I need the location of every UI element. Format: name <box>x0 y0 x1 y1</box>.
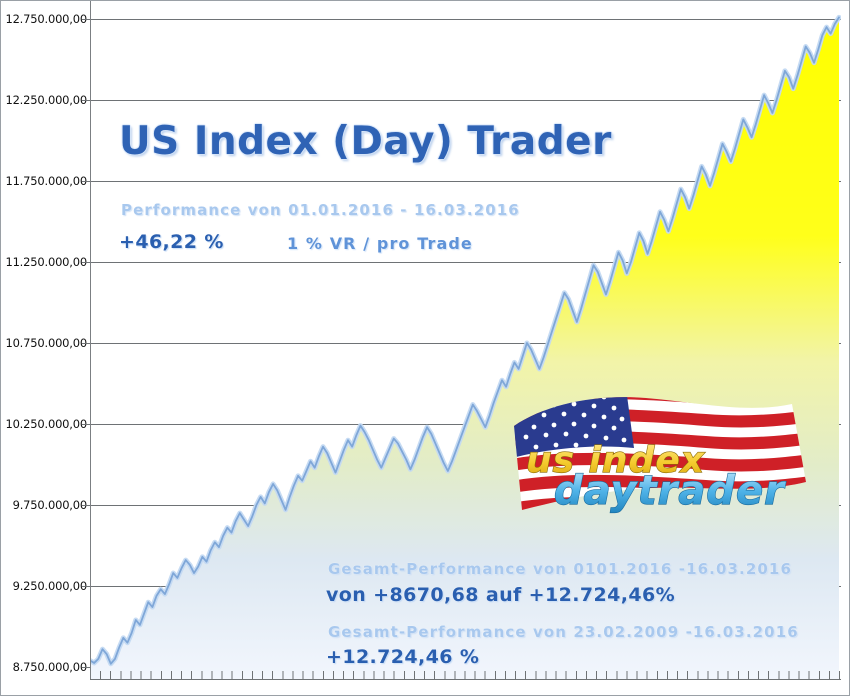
y-axis-tick-label: 9.250.000,00 <box>3 579 87 593</box>
y-axis-major-tick <box>82 181 90 182</box>
page-title: US Index (Day) Trader <box>119 119 612 164</box>
y-axis-tick-label: 12.250.000,00 <box>3 93 87 107</box>
y-axis-major-tick <box>82 100 90 101</box>
total-performance-value-1: von +8670,68 auf +12.724,46% <box>326 584 675 606</box>
y-axis-labels: 12.750.000,0012.250.000,0011.750.000,001… <box>1 1 87 696</box>
y-axis-tick-label: 10.750.000,00 <box>3 336 87 350</box>
total-performance-label-2: Gesamt-Performance von 23.02.2009 -16.03… <box>328 623 799 641</box>
y-axis-major-tick <box>82 505 90 506</box>
y-axis-major-tick <box>82 19 90 20</box>
x-axis-line <box>90 679 841 680</box>
y-axis-tick-label: 11.750.000,00 <box>3 174 87 188</box>
total-performance-value-2: +12.724,46 % <box>326 646 479 668</box>
performance-period-label: Performance von 01.01.2016 - 16.03.2016 <box>121 201 520 219</box>
y-axis-major-tick <box>82 262 90 263</box>
y-axis-tick-label: 8.750.000,00 <box>3 660 87 674</box>
y-axis-tick-label: 10.250.000,00 <box>3 417 87 431</box>
area-fill <box>90 17 839 679</box>
y-axis-tick-label: 9.750.000,00 <box>3 498 87 512</box>
performance-period-value: +46,22 % <box>119 231 224 253</box>
chart-root: 12.750.000,0012.250.000,0011.750.000,001… <box>0 0 850 696</box>
y-axis-major-tick <box>82 424 90 425</box>
total-performance-label-1: Gesamt-Performance von 0101.2016 -16.03.… <box>328 560 792 578</box>
y-axis-major-tick <box>82 667 90 668</box>
y-axis-line <box>90 1 91 679</box>
risk-per-trade-note: 1 % VR / pro Trade <box>287 234 473 253</box>
y-axis-tick-label: 11.250.000,00 <box>3 255 87 269</box>
y-axis-tick-label: 12.750.000,00 <box>3 12 87 26</box>
y-axis-major-tick <box>82 586 90 587</box>
y-axis-major-tick <box>82 343 90 344</box>
